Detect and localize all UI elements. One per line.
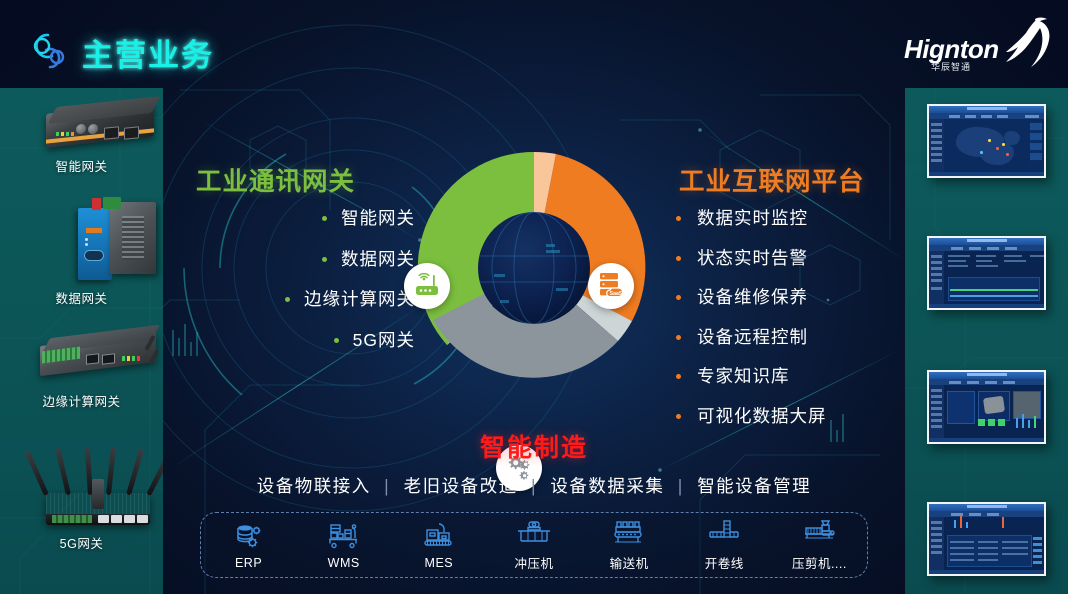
svg-text:SaaS: SaaS [610,291,623,297]
system-item-uncoiling[interactable]: 开卷线 [681,518,767,572]
product-label: 数据网关 [0,288,163,307]
uncoiling-line-icon [681,518,767,548]
right-column-heading: 工业互联网平台 [679,161,865,198]
list-item[interactable]: 数据实时监控 [676,210,906,228]
stamping-machine-icon [491,518,577,548]
report-table-dashboard-thumbnail[interactable] [927,502,1046,576]
router-badge[interactable] [404,263,450,309]
systems-panel: ERP [200,512,868,578]
product-item-0[interactable]: 智能网关 [0,100,163,175]
system-item-mes[interactable]: MES [396,521,482,570]
system-label: 输送机 [586,553,672,572]
shearing-machine-icon [776,518,862,548]
left-product-panel: 智能网关 数据网关 边缘计算网关 [0,88,163,594]
system-item-stamping[interactable]: 冲压机 [491,518,577,572]
edge-computing-gateway-device-icon [36,329,164,387]
page-title: 主营业务 [82,30,214,75]
list-item-label: 可视化数据大屏 [697,408,827,426]
circular-swirl-logo-icon [28,30,70,72]
bullet-dot [285,297,290,302]
system-label: MES [396,556,482,570]
smart-manufacturing-title: 智能制造 [163,428,905,464]
list-item[interactable]: 专家知识库 [676,368,906,386]
bullet-dot [676,216,681,221]
center-content: 工业通讯网关 智能网关 数据网关 边缘计算网关 5G网关 工业互联网平台 数据实… [163,88,905,594]
system-label: 冲压机 [491,553,577,572]
product-item-2[interactable]: 边缘计算网关 [0,329,163,410]
system-label: 开卷线 [681,553,767,572]
list-item-label: 数据网关 [341,251,415,269]
bullet-dot [676,335,681,340]
map-dashboard-thumbnail[interactable] [927,104,1046,178]
list-item[interactable]: 边缘计算网关 [163,291,415,309]
system-label: ERP [206,556,292,570]
system-label: 压剪机.... [776,553,862,572]
5g-gateway-router-icon [32,433,164,529]
system-label: WMS [301,556,387,570]
brand-logo: Hignton 华辰智通 [904,16,1054,78]
warehouse-cart-icon [301,521,387,551]
list-item[interactable]: 智能网关 [163,210,415,228]
router-icon [413,270,441,303]
chain-separator: | [384,476,390,496]
bullet-dot [676,374,681,379]
system-item-wms[interactable]: WMS [301,521,387,570]
device-detail-dashboard-thumbnail[interactable] [927,370,1046,444]
system-item-conveyor[interactable]: 输送机 [586,518,672,572]
list-item-label: 智能网关 [341,210,415,228]
bullet-dot [334,338,339,343]
saas-server-icon: SaaS [596,270,626,303]
product-label: 5G网关 [0,533,163,552]
data-gateway-device-icon [72,194,164,284]
data-monitor-dashboard-thumbnail[interactable] [927,236,1046,310]
bullet-dot [676,295,681,300]
left-column-list: 智能网关 数据网关 边缘计算网关 5G网关 [163,210,415,349]
list-item-label: 边缘计算网关 [304,291,415,309]
brand-subtitle: 华辰智通 [931,60,971,73]
chain-item: 老旧设备改造 [404,476,518,496]
bullet-dot [676,414,681,419]
list-item-label: 设备远程控制 [697,329,808,347]
smart-gateway-device-icon [46,100,164,152]
product-label: 边缘计算网关 [0,391,163,410]
list-item-label: 设备维修保养 [697,289,808,307]
list-item[interactable]: 可视化数据大屏 [676,408,906,426]
database-gears-icon [206,521,292,551]
chain-item: 设备物联接入 [257,476,371,496]
list-item[interactable]: 设备远程控制 [676,329,906,347]
bullet-dot [676,256,681,261]
conveyor-machine-icon [586,518,672,548]
right-column-list: 数据实时监控 状态实时告警 设备维修保养 设备远程控制 专家知识库 可视化数据大… [676,210,906,425]
list-item-label: 状态实时告警 [697,250,808,268]
conveyor-crane-icon [396,521,482,551]
list-item[interactable]: 状态实时告警 [676,250,906,268]
list-item-label: 5G网关 [353,332,415,350]
chain-separator: | [678,476,684,496]
product-item-1[interactable]: 数据网关 [0,194,163,307]
list-item-label: 专家知识库 [697,368,790,386]
list-item[interactable]: 5G网关 [163,332,415,350]
slide-canvas: 主营业务 Hignton 华辰智通 [0,0,1068,594]
system-item-shearing[interactable]: 压剪机.... [776,518,862,572]
list-item[interactable]: 数据网关 [163,251,415,269]
chain-item: 设备数据采集 [550,476,664,496]
chain-separator: | [531,476,537,496]
system-item-erp[interactable]: ERP [206,521,292,570]
page-header: 主营业务 Hignton 华辰智通 [0,0,1068,88]
bullet-dot [322,216,327,221]
chain-item: 智能设备管理 [697,476,811,496]
list-item[interactable]: 设备维修保养 [676,289,906,307]
list-item-label: 数据实时监控 [697,210,808,228]
globe-sphere-icon [478,212,590,324]
saas-badge[interactable]: SaaS [588,263,634,309]
bullet-dot [322,257,327,262]
product-item-3[interactable]: 5G网关 [0,433,163,552]
right-dashboard-panel [905,88,1068,594]
left-column-heading: 工业通讯网关 [196,161,355,198]
product-label: 智能网关 [0,156,163,175]
capability-chain: 设备物联接入 | 老旧设备改造 | 设备数据采集 | 智能设备管理 [163,473,905,498]
